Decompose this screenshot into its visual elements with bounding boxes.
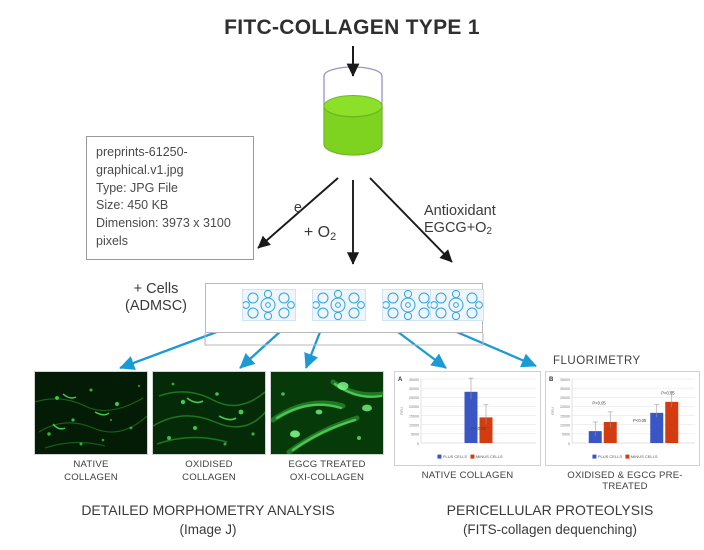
oxygen-subscript: 2 [330,231,336,243]
chart-b-caption: OXIDISED & EGCG PRE-TREATED [546,470,704,492]
chart-panel-a: A05000100001500020000250003000035000RFUP… [394,371,541,466]
antioxidant-subscript: 2 [486,226,491,237]
native-collagen-image [34,371,148,455]
bar-plus-cells [650,413,663,443]
section-left-line1: DETAILED MORPHOMETRY ANALYSIS [36,500,380,520]
legend-label: PLUS CELLS [598,454,623,459]
section-right-line1: PERICELLULAR PROTEOLYSIS [396,500,704,520]
cell-well-1 [242,289,296,321]
chart-a-svg: A05000100001500020000250003000035000RFUP… [395,372,540,465]
chart-panel-letter: B [549,377,554,383]
svg-text:25000: 25000 [409,396,419,400]
file-size: Size: 450 KB [96,197,244,215]
svg-text:15000: 15000 [560,414,570,418]
oxidised-collagen-image [152,371,266,455]
antioxidant-route-label: Antioxidant EGCG+O2 [424,203,554,236]
egcg-treated-image [270,371,384,455]
svg-text:35000: 35000 [409,378,419,382]
legend-label: MINUS CELLS [476,454,503,459]
svg-text:35000: 35000 [560,378,570,382]
svg-text:5000: 5000 [562,433,570,437]
legend-label: MINUS CELLS [631,454,658,459]
file-dimension-line2: pixels [96,233,244,251]
p-value-annotation: P<0.05 [633,418,647,423]
chart-a-caption: NATIVE COLLAGEN [386,470,549,481]
file-info-tooltip: preprints-61250- graphical.v1.jpg Type: … [86,136,254,260]
p-value-annotation: P<0.05 [592,401,606,406]
egcg-treated-caption: EGCG TREATED OXI-COLLAGEN [270,459,384,484]
svg-text:RFU: RFU [551,407,555,415]
antioxidant-line2: EGCG+O [424,220,486,236]
morphometry-section-caption: DETAILED MORPHOMETRY ANALYSIS (Image J) [36,500,380,540]
file-type: Type: JPG File [96,180,244,198]
legend-label: PLUS CELLS [443,454,468,459]
caption-line2: OXI-COLLAGEN [270,472,384,485]
caption-line2: COLLAGEN [152,472,266,485]
section-left-line2: (Image J) [36,520,380,540]
oxidised-collagen-caption: OXIDISED COLLAGEN [152,459,266,484]
chart-b-svg: B05000100001500020000250003000035000RFUP… [546,372,699,465]
svg-text:10000: 10000 [409,424,419,428]
cell-well-4 [430,289,484,321]
svg-text:0: 0 [568,442,570,446]
cell-well-2 [312,289,366,321]
svg-text:20000: 20000 [560,405,570,409]
proteolysis-section-caption: PERICELLULAR PROTEOLYSIS (FITS-collagen … [396,500,704,540]
svg-text:30000: 30000 [409,387,419,391]
well-plate-strip [205,283,483,333]
cells-line1: + Cells [108,281,204,298]
native-collagen-caption: NATIVE COLLAGEN [34,459,148,484]
svg-text:20000: 20000 [409,405,419,409]
cell-well-3 [382,289,436,321]
file-name-line1: preprints-61250- [96,144,244,162]
p-value-annotation: P< 0.05 [471,426,486,431]
chart-panel-letter: A [398,377,403,383]
chart-panel-b: B05000100001500020000250003000035000RFUP… [545,371,700,466]
svg-text:0: 0 [417,442,419,446]
collagen-vial [312,62,394,172]
page-title: FITC-COLLAGEN TYPE 1 [0,16,704,40]
fluorimetry-label: FLUORIMETRY [553,355,641,367]
bar-minus-cells [665,402,678,443]
cells-line2: (ADMSC) [108,298,204,315]
svg-text:30000: 30000 [560,387,570,391]
file-dimension-line1: Dimension: 3973 x 3100 [96,215,244,233]
caption-line2: COLLAGEN [34,472,148,485]
svg-text:10000: 10000 [560,424,570,428]
svg-text:25000: 25000 [560,396,570,400]
antioxidant-line2-wrap: EGCG+O2 [424,220,554,237]
graphical-abstract: FITC-COLLAGEN TYPE 1 [0,0,704,550]
caption-line1: EGCG TREATED [270,459,384,472]
section-right-line2: (FITS-collagen dequenching) [396,520,704,540]
svg-text:15000: 15000 [409,414,419,418]
cells-label: + Cells (ADMSC) [108,281,204,316]
caption-line1: OXIDISED [152,459,266,472]
p-value-annotation: P<0.05 [661,391,675,396]
bar-plus-cells [465,392,478,443]
file-name-line2: graphical.v1.jpg [96,162,244,180]
oxygen-route-label: + O2 [292,224,348,242]
antioxidant-line1: Antioxidant [424,203,554,220]
svg-text:RFU: RFU [400,407,404,415]
svg-text:5000: 5000 [411,433,419,437]
caption-line1: NATIVE [34,459,148,472]
oxygen-label-text: + O [304,224,330,241]
